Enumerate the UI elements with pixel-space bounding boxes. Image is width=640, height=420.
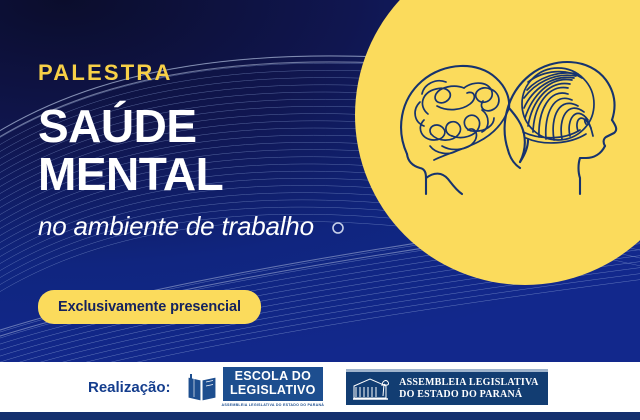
alep-line-1: ASSEMBLEIA LEGISLATIVA [399,377,538,389]
event-banner: PALESTRA SAÚDE MENTAL no ambiente de tra… [0,0,640,420]
two-heads-illustration [382,42,620,220]
status-badge: Exclusivamente presencial [38,290,261,324]
escola-line-1: ESCOLA DO [230,370,316,383]
footer-bar: Realização: ESCOLA DO LEGISLATIVO ASSEMB… [0,362,640,412]
escola-text-block: ESCOLA DO LEGISLATIVO ASSEMBLEIA LEGISLA… [222,367,325,406]
bottom-strip [0,412,640,420]
tangled-scribble-brain [415,81,499,154]
capitol-building-icon [352,376,392,402]
open-book-icon [185,371,219,403]
alep-line-2: DO ESTADO DO PARANÁ [399,389,538,401]
logo-escola-do-legislativo: ESCOLA DO LEGISLATIVO ASSEMBLEIA LEGISLA… [185,367,325,406]
alep-text-block: ASSEMBLEIA LEGISLATIVA DO ESTADO DO PARA… [399,377,538,401]
title-line-1: SAÚDE [38,100,197,152]
escola-line-2: LEGISLATIVO [230,384,316,397]
page-title: SAÚDE MENTAL [38,102,368,199]
title-line-2: MENTAL [38,150,368,198]
escola-subtitle: ASSEMBLEIA LEGISLATIVA DO ESTADO DO PARA… [222,403,325,407]
headline-block: PALESTRA SAÚDE MENTAL no ambiente de tra… [38,62,368,242]
eyebrow-label: PALESTRA [38,62,368,84]
yarn-ball-brain [522,68,594,143]
realization-label: Realização: [88,379,171,396]
escola-name: ESCOLA DO LEGISLATIVO [223,367,323,400]
logo-assembleia-legislativa: ASSEMBLEIA LEGISLATIVA DO ESTADO DO PARA… [346,369,547,405]
subtitle: no ambiente de trabalho [38,211,368,242]
